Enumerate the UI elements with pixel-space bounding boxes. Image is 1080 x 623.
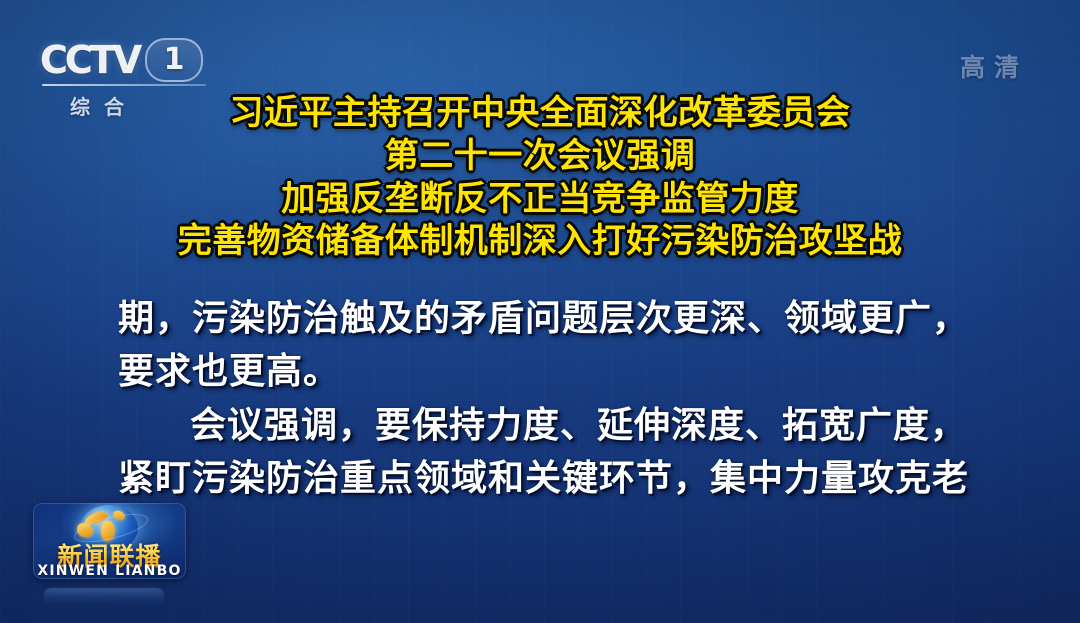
headline-block: 习近平主持召开中央全面深化改革委员会 第二十一次会议强调 加强反垄断反不正当竞争… bbox=[0, 92, 1080, 263]
broadcast-screen: CCTV 1 综合 高清 习近平主持召开中央全面深化改革委员会 第二十一次会议强… bbox=[0, 0, 1080, 623]
headline-line-2: 第二十一次会议强调 bbox=[0, 135, 1080, 178]
headline-line-4: 完善物资储备体制机制深入打好污染防治攻坚战 bbox=[0, 220, 1080, 263]
program-logo: 新闻联播 XINWEN LIANBO bbox=[33, 503, 186, 579]
logo-base-reflection bbox=[44, 588, 164, 605]
channel-number: 1 bbox=[164, 45, 185, 75]
headline-line-3: 加强反垄断反不正当竞争监管力度 bbox=[0, 178, 1080, 221]
hd-quality-badge: 高清 bbox=[960, 48, 1028, 84]
cctv-wordmark: CCTV bbox=[40, 38, 139, 82]
channel-number-badge: 1 bbox=[145, 38, 203, 82]
cctv-logo-row: CCTV 1 bbox=[40, 38, 240, 82]
body-line-1: 期，污染防治触及的矛盾问题层次更深、领域更广， bbox=[118, 292, 998, 345]
body-line-3: 会议强调，要保持力度、延伸深度、拓宽广度， bbox=[118, 399, 998, 452]
program-name-en: XINWEN LIANBO bbox=[33, 563, 186, 579]
cctv-underline bbox=[42, 84, 206, 86]
body-line-2: 要求也更高。 bbox=[118, 345, 998, 398]
body-line-4: 紧盯污染防治重点领域和关键环节，集中力量攻克老 bbox=[118, 452, 998, 505]
body-copy-block: 期，污染防治触及的矛盾问题层次更深、领域更广， 要求也更高。 会议强调，要保持力… bbox=[118, 292, 998, 505]
headline-line-1: 习近平主持召开中央全面深化改革委员会 bbox=[0, 92, 1080, 135]
